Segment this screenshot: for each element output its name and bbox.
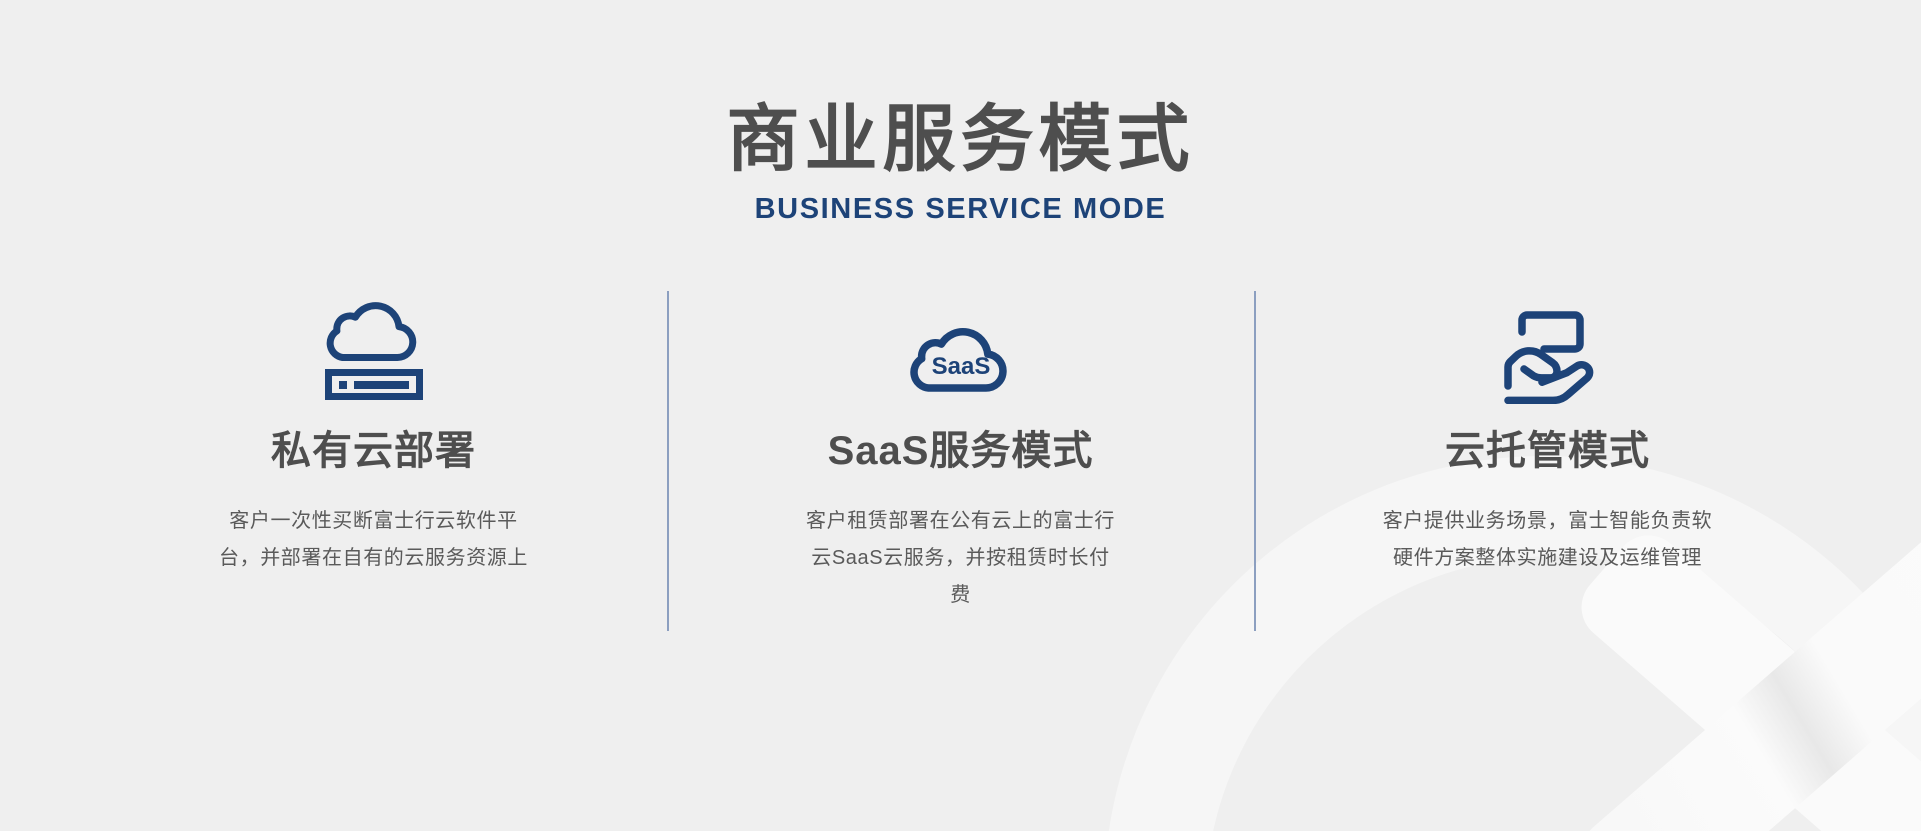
card-title: SaaS服务模式 bbox=[828, 429, 1094, 473]
card-description: 客户租赁部署在公有云上的富士行云SaaS云服务，并按租赁时长付费 bbox=[806, 503, 1116, 614]
service-mode-list: 私有云部署 客户一次性买断富士行云软件平台，并部署在自有的云服务资源上 SaaS… bbox=[0, 288, 1921, 614]
card-title: 私有云部署 bbox=[271, 429, 476, 473]
card-description: 客户一次性买断富士行云软件平台，并部署在自有的云服务资源上 bbox=[219, 503, 529, 577]
column-divider bbox=[1254, 291, 1256, 631]
service-card-saas: SaaS SaaS服务模式 客户租赁部署在公有云上的富士行云SaaS云服务，并按… bbox=[667, 288, 1254, 614]
page-title: 商业服务模式 bbox=[0, 103, 1921, 176]
saas-icon-label: SaaS bbox=[931, 353, 990, 380]
cloud-saas-icon: SaaS bbox=[905, 288, 1017, 404]
service-card-private-cloud: 私有云部署 客户一次性买断富士行云软件平台，并部署在自有的云服务资源上 bbox=[80, 288, 667, 614]
card-title: 云托管模式 bbox=[1445, 429, 1650, 473]
cloud-server-icon bbox=[318, 288, 430, 404]
page-subtitle: BUSINESS SERVICE MODE bbox=[0, 193, 1921, 226]
column-divider bbox=[667, 291, 669, 631]
card-description: 客户提供业务场景，富士智能负责软硬件方案整体实施建设及运维管理 bbox=[1383, 503, 1713, 577]
hand-holding-server-icon bbox=[1492, 288, 1604, 404]
service-card-hosting: 云托管模式 客户提供业务场景，富士智能负责软硬件方案整体实施建设及运维管理 bbox=[1254, 288, 1841, 614]
section-header: 商业服务模式 BUSINESS SERVICE MODE bbox=[0, 0, 1921, 226]
